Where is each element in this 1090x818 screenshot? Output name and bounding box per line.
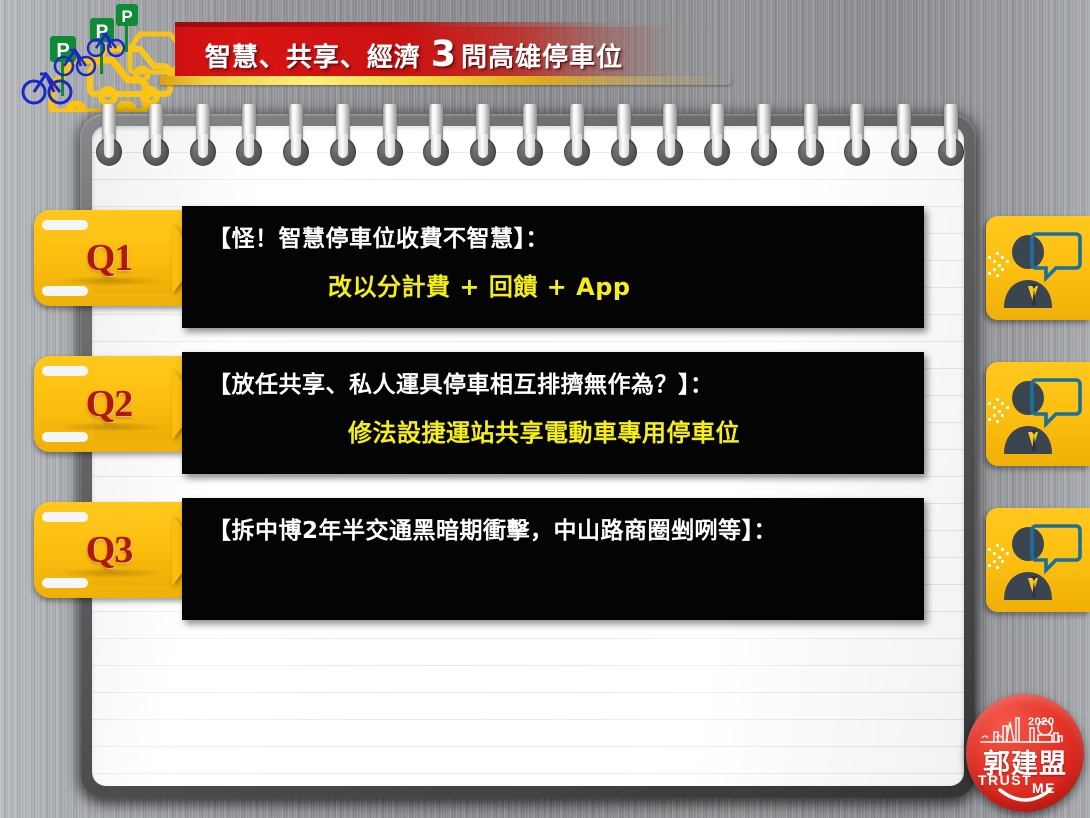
spiral-ring [423,104,449,176]
question-tab-q3[interactable]: Q3 [34,502,199,598]
question-box-q2: 【放任共享、私人運具停車相互排擠無作為？】：修法設捷運站共享電動車專用停車位 [182,352,924,474]
page-title-number: 3 [421,37,461,73]
question-box-q1: 【怪！智慧停車位收費不智慧】：改以分計費 + 回饋 + App [182,206,924,328]
page-title-rest: 問高雄停車位 [461,37,623,74]
spiral-ring [517,104,543,176]
spiral-ring [190,104,216,176]
spiral-ring [844,104,870,176]
side-tab-person-speech-bubble-icon[interactable] [986,508,1090,612]
logo-me-text: ME [1032,780,1056,796]
spiral-ring [143,104,169,176]
dotted-arrow-icon [988,398,1009,423]
question-tab-label: Q3 [34,514,184,586]
page-title: 智慧、共享、經濟 3 問高雄停車位 [205,33,623,77]
spiral-ring [891,104,917,176]
dotted-arrow-icon [988,544,1009,569]
page-title-main: 智慧、共享、經濟 [205,37,421,74]
spiral-ring [657,104,683,176]
question-line-2: 修法設捷運站共享電動車專用停車位 [208,417,904,449]
spiral-ring [330,104,356,176]
question-box-q3: 【拆中博2年半交通黑暗期衝擊，中山路商圈剉咧等】： [182,498,924,620]
spiral-ring [377,104,403,176]
spiral-ring [798,104,824,176]
person-speech-bubble-icon [986,508,1090,612]
side-tab-person-speech-bubble-icon[interactable] [986,216,1090,320]
dotted-arrow-icon [988,252,1009,277]
banner-underline [160,76,732,85]
svg-text:P: P [121,7,132,26]
person-speech-bubble-icon [986,362,1090,466]
question-line-2: 改以分計費 + 回饋 + App [208,271,904,303]
spiral-ring [236,104,262,176]
spiral-ring [611,104,637,176]
logo-year: 2020 [1028,716,1054,728]
question-line-1: 【拆中博2年半交通黑暗期衝擊，中山路商圈剉咧等】： [208,516,904,547]
spiral-ring [938,104,964,176]
question-line-1: 【怪！智慧停車位收費不智慧】： [208,224,904,255]
spiral-ring [470,104,496,176]
slide-root: P P P 智慧、共享、經濟 3 問高雄 [0,0,1090,818]
campaign-logo-badge[interactable]: 2020 郭建盟 TRUST ME [966,694,1084,812]
side-tab-person-speech-bubble-icon[interactable] [986,362,1090,466]
question-line-1: 【放任共享、私人運具停車相互排擠無作為？】： [208,370,904,401]
spiral-ring [704,104,730,176]
spiral-binding [96,104,964,178]
question-tab-q2[interactable]: Q2 [34,356,199,452]
spiral-ring [283,104,309,176]
logo-trust-text: TRUST [978,772,1032,788]
spiral-ring [96,104,122,176]
question-tab-q1[interactable]: Q1 [34,210,199,306]
spiral-ring [751,104,777,176]
person-speech-bubble-icon [986,216,1090,320]
question-tab-label: Q1 [34,222,184,294]
spiral-ring [564,104,590,176]
question-tab-label: Q2 [34,368,184,440]
